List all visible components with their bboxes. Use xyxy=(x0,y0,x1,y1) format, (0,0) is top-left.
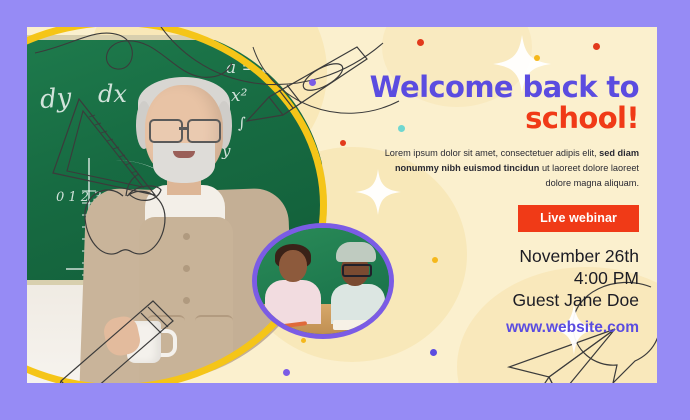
live-webinar-button[interactable]: Live webinar xyxy=(518,205,639,232)
dot-purple-2 xyxy=(430,349,437,356)
teacher-beard xyxy=(153,143,215,183)
chalk-note: x² xyxy=(231,86,247,106)
glasses-icon xyxy=(179,127,187,130)
page-title-line-2: school! xyxy=(367,103,639,133)
event-details: November 26th 4:00 PM Guest Jane Doe www… xyxy=(367,245,639,337)
dot-yellow-3 xyxy=(301,338,306,343)
event-time: 4:00 PM xyxy=(367,267,639,289)
student-left-body xyxy=(265,280,321,324)
chalk-note: a = b xyxy=(226,58,272,78)
vest-button xyxy=(183,233,190,240)
glasses-icon xyxy=(149,119,183,143)
vest-button xyxy=(183,265,190,272)
welcome-back-to-school-banner: dy dx a = b x² ∫ y f(x) 0 1 2 3 xyxy=(0,0,690,420)
vest-button xyxy=(183,297,190,304)
dot-red-3 xyxy=(340,140,346,146)
body-copy: Lorem ipsum dolor sit amet, consectetuer… xyxy=(367,146,639,191)
vest-pocket xyxy=(195,315,233,341)
glasses-icon xyxy=(187,119,221,143)
dot-yellow-1 xyxy=(534,55,540,61)
teacher-smile xyxy=(173,151,195,158)
event-guest: Guest Jane Doe xyxy=(367,289,639,311)
student-left-face xyxy=(279,250,307,282)
dot-red-2 xyxy=(593,43,600,50)
dot-purple-1 xyxy=(309,79,316,86)
body-copy-part-1: Lorem ipsum dolor sit amet, consectetuer… xyxy=(385,148,599,158)
banner-content-card: dy dx a = b x² ∫ y f(x) 0 1 2 3 xyxy=(27,27,657,383)
chalk-note: dy xyxy=(39,83,72,115)
chalk-note: ∫ xyxy=(238,114,246,132)
banner-text-column: Welcome back to school! Lorem ipsum dolo… xyxy=(367,73,639,337)
cta-row: Live webinar xyxy=(367,205,639,232)
chalk-note: dx xyxy=(98,80,127,108)
page-title-line-1: Welcome back to xyxy=(367,73,639,103)
website-link[interactable]: www.website.com xyxy=(367,319,639,337)
body-copy-part-2: ut laoreet dolore laoreet dolore magna a… xyxy=(539,163,639,188)
dot-red-1 xyxy=(417,39,424,46)
dot-purple-3 xyxy=(283,369,290,376)
event-date: November 26th xyxy=(367,245,639,267)
